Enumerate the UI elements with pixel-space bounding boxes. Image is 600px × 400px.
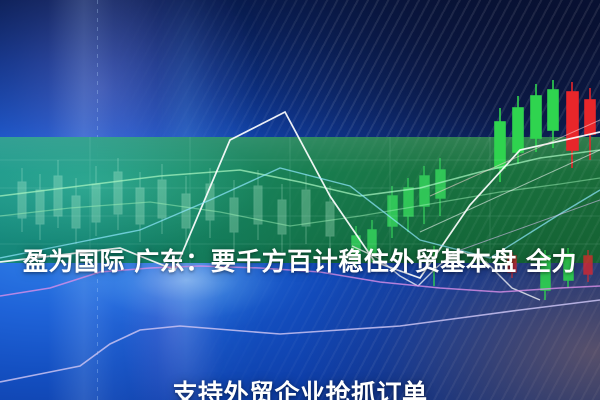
headline-text: 盈为国际 广东：要千方百计稳住外贸基本盘 全力 支持外贸企业抢抓订单	[0, 152, 600, 400]
headline-line-1: 盈为国际 广东：要千方百计稳住外贸基本盘 全力	[6, 240, 594, 284]
news-banner-image: 盈为国际 广东：要千方百计稳住外贸基本盘 全力 支持外贸企业抢抓订单	[0, 0, 600, 400]
headline-line-2: 支持外贸企业抢抓订单	[6, 372, 594, 400]
